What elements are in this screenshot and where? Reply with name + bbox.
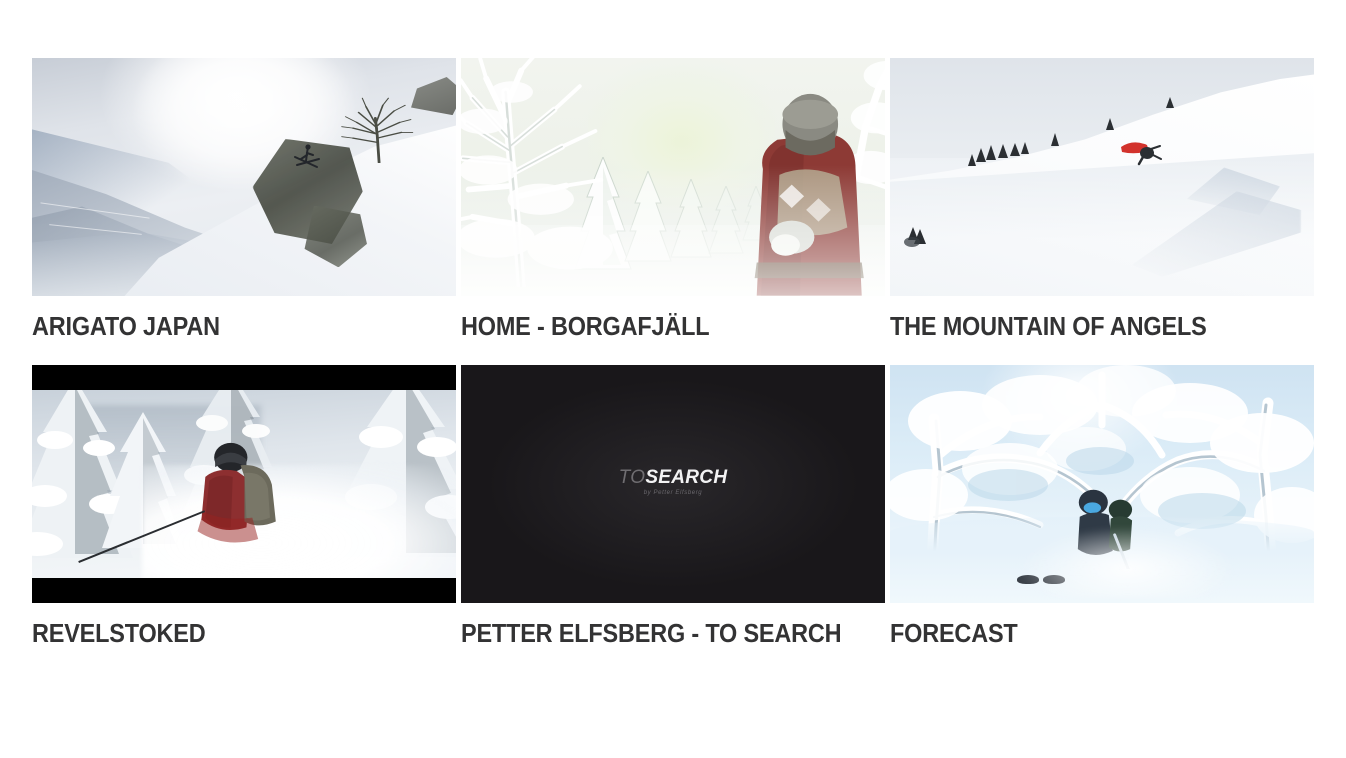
powder-skier-icon xyxy=(176,438,303,555)
logo-word-to: TO xyxy=(619,467,646,488)
video-card-the-mountain-of-angels[interactable]: THE MOUNTAIN OF ANGELS xyxy=(890,58,1314,343)
ridge-trees-icon xyxy=(890,58,1314,296)
video-title-arigato-japan[interactable]: ARIGATO JAPAN xyxy=(32,312,422,343)
bare-tree-icon xyxy=(325,91,418,162)
powder-spray xyxy=(1017,526,1237,597)
video-title-petter-elfsberg-to-search[interactable]: PETTER ELFSBERG - TO SEARCH xyxy=(461,619,851,650)
video-thumbnail-the-mountain-of-angels[interactable] xyxy=(890,58,1314,296)
skier-person-figure xyxy=(732,91,876,296)
logo-subtitle: by Petter Elfsberg xyxy=(619,490,728,496)
video-title-revelstoked[interactable]: REVELSTOKED xyxy=(32,619,422,650)
powder-scene xyxy=(32,390,456,578)
video-thumbnail-revelstoked[interactable] xyxy=(32,365,456,603)
video-title-home-borgafjall[interactable]: HOME - BORGAFJÄLL xyxy=(461,312,851,343)
backflip-skier-icon xyxy=(1119,137,1163,167)
letterbox-bar-top xyxy=(32,365,456,390)
video-title-forecast[interactable]: FORECAST xyxy=(890,619,1280,650)
video-thumbnail-forecast[interactable] xyxy=(890,365,1314,603)
skier-figure-icon xyxy=(287,141,327,181)
video-card-revelstoked[interactable]: REVELSTOKED xyxy=(32,365,456,650)
video-thumbnail-petter-elfsberg-to-search[interactable]: TOSEARCH by Petter Elfsberg xyxy=(461,365,885,603)
video-title-the-mountain-of-angels[interactable]: THE MOUNTAIN OF ANGELS xyxy=(890,312,1280,343)
video-card-home-borgafjall[interactable]: HOME - BORGAFJÄLL xyxy=(461,58,885,343)
video-thumbnail-arigato-japan[interactable] xyxy=(32,58,456,296)
video-card-arigato-japan[interactable]: ARIGATO JAPAN xyxy=(32,58,456,343)
video-grid: ARIGATO JAPAN xyxy=(32,58,1313,649)
to-search-logo: TOSEARCH by Petter Elfsberg xyxy=(619,467,728,496)
letterbox-bar-bottom xyxy=(32,578,456,603)
to-search-logo-line: TOSEARCH xyxy=(619,467,728,489)
logo-word-search: SEARCH xyxy=(645,467,727,488)
video-thumbnail-home-borgafjall[interactable] xyxy=(461,58,885,296)
video-card-petter-elfsberg-to-search[interactable]: TOSEARCH by Petter Elfsberg PETTER ELFSB… xyxy=(461,365,885,650)
video-card-forecast[interactable]: FORECAST xyxy=(890,365,1314,650)
video-gallery: ARIGATO JAPAN xyxy=(0,0,1346,758)
